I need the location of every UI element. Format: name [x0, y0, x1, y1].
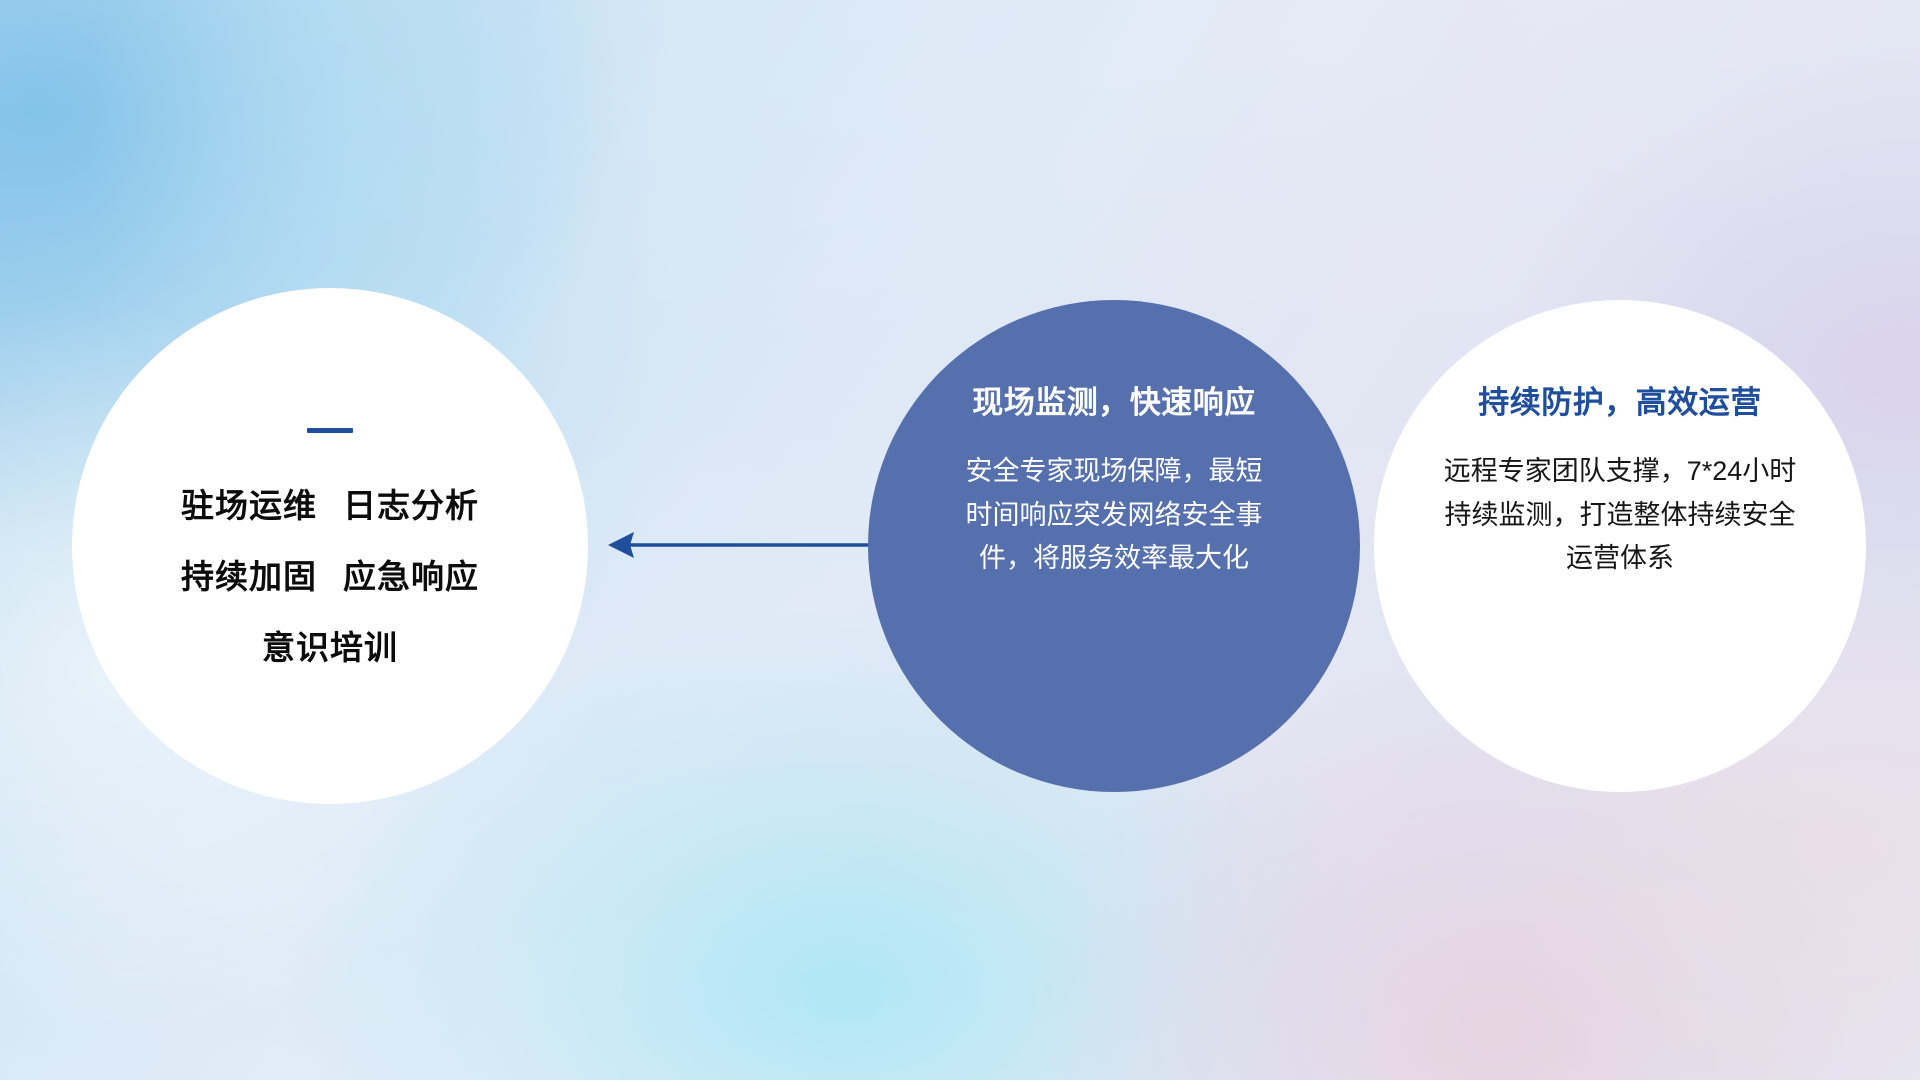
- capability-row: 意识培训: [262, 631, 398, 664]
- continuous-protection-body: 远程专家团队支撑，7*24小时持续监测，打造整体持续安全运营体系: [1440, 450, 1800, 581]
- continuous-protection-circle[interactable]: 持续防护，高效运营 远程专家团队支撑，7*24小时持续监测，打造整体持续安全运营…: [1374, 300, 1866, 792]
- capability-item: 驻场运维: [181, 487, 317, 524]
- left-arrow-icon: [600, 512, 890, 578]
- continuous-protection-title: 持续防护，高效运营: [1478, 387, 1762, 418]
- capability-item: 持续加固: [181, 558, 317, 595]
- capability-item: 应急响应: [343, 558, 479, 595]
- capability-row: 持续加固应急响应: [181, 560, 479, 593]
- onsite-monitoring-circle[interactable]: 现场监测，快速响应 安全专家现场保障，最短时间响应突发网络安全事件，将服务效率最…: [868, 300, 1360, 792]
- slide-canvas: 驻场运维日志分析 持续加固应急响应 意识培训 持续防护，高效运营 远程专家团队支…: [0, 0, 1920, 1080]
- divider-dash: [307, 428, 353, 433]
- capabilities-circle[interactable]: 驻场运维日志分析 持续加固应急响应 意识培训: [72, 288, 588, 804]
- onsite-monitoring-body: 安全专家现场保障，最短时间响应突发网络安全事件，将服务效率最大化: [954, 450, 1274, 581]
- onsite-monitoring-title: 现场监测，快速响应: [972, 387, 1256, 418]
- capability-item: 日志分析: [343, 487, 479, 524]
- capability-item: 意识培训: [262, 629, 398, 666]
- capability-list: 驻场运维日志分析 持续加固应急响应 意识培训: [181, 489, 479, 664]
- capability-row: 驻场运维日志分析: [181, 489, 479, 522]
